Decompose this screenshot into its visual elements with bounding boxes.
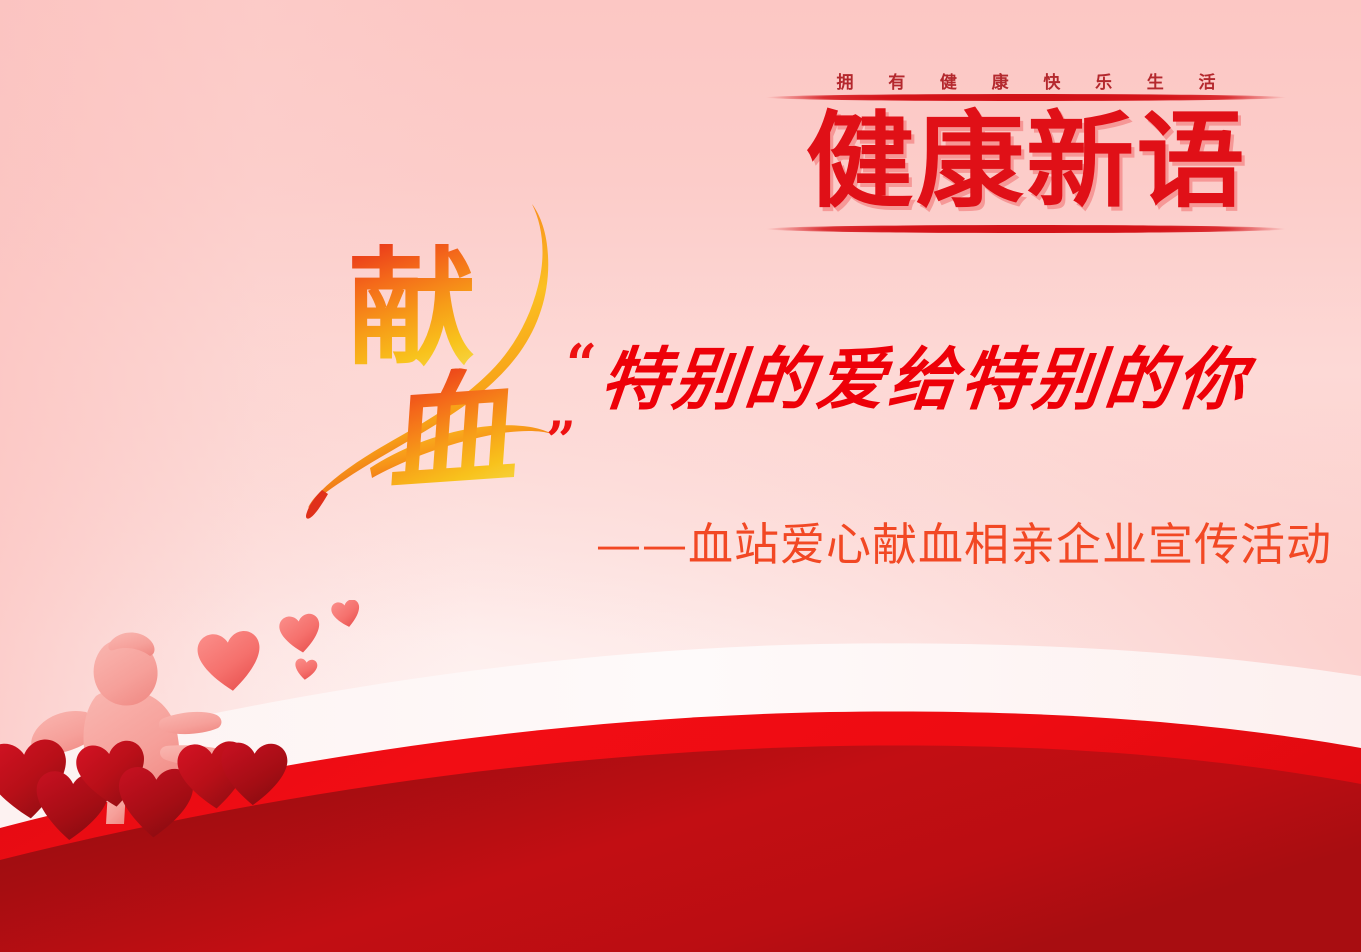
floating-heart-2 <box>330 600 363 630</box>
subtitle: ——血站爱心献血相亲企业宣传活动 <box>596 516 1332 574</box>
poster-canvas: 拥 有 健 康 快 乐 生 活 健康新语 <box>0 0 1361 952</box>
headline: “ 特别的爱给特别的你 <box>566 338 1266 438</box>
floating-heart-3 <box>294 658 318 681</box>
held-heart <box>196 630 264 694</box>
cupid-hearts-decoration <box>0 600 420 952</box>
masthead-title: 健康新语 <box>751 100 1300 222</box>
quote-close-mark: ” <box>546 422 576 462</box>
masthead: 拥 有 健 康 快 乐 生 活 健康新语 <box>762 60 1290 242</box>
headline-text: 特别的爱给特别的你 <box>597 338 1254 422</box>
masthead-rule-bottom <box>766 225 1286 233</box>
quote-open-mark: “ <box>566 342 597 386</box>
masthead-tagline: 拥 有 健 康 快 乐 生 活 <box>762 68 1290 93</box>
floating-heart-1 <box>278 612 323 655</box>
